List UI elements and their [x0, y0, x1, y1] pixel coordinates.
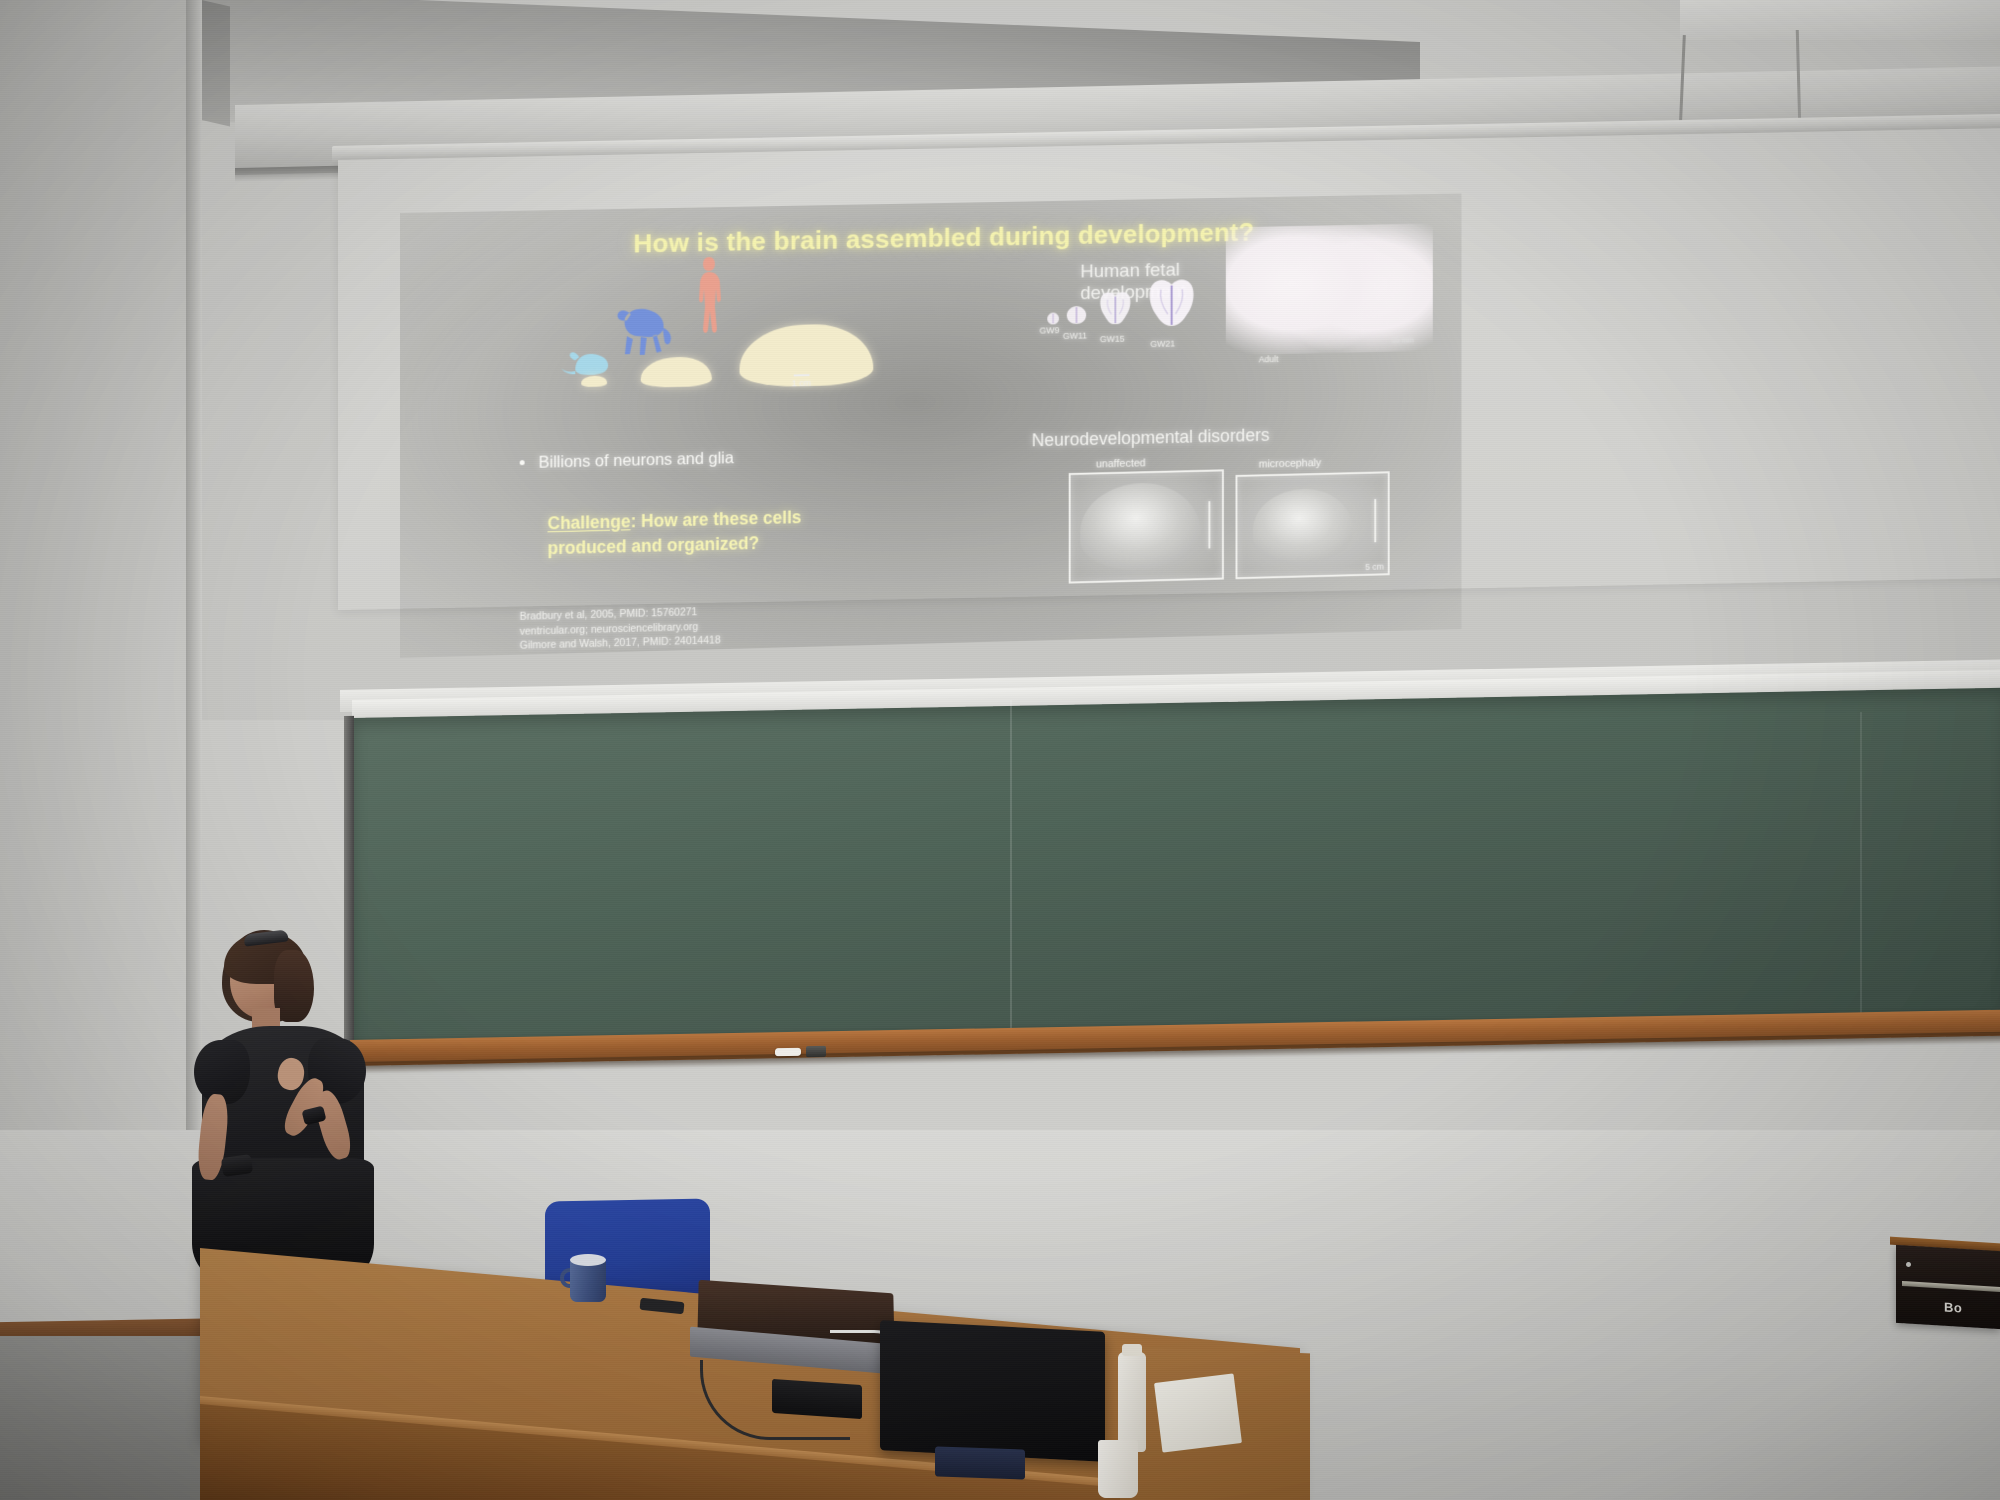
monitor-stand	[935, 1446, 1025, 1479]
slide-citations: Bradbury et al, 2005, PMID: 15760271 ven…	[520, 605, 721, 654]
mug-rim	[570, 1254, 606, 1266]
chalkboard-seam-right	[1860, 712, 1862, 1032]
fetal-series-panel: GW9 GW11 GW15 GW21 Adult 10 mm	[1032, 241, 1438, 387]
mri-head-unaffected	[1080, 482, 1200, 572]
bottle-cap[interactable]	[1122, 1344, 1142, 1356]
mri-microcephaly: 5 cm	[1236, 471, 1390, 579]
mri-unaffected	[1069, 469, 1224, 583]
fetal-label-adult: Adult	[1259, 354, 1279, 364]
challenge-line2: produced and organized?	[548, 533, 760, 558]
mri-scale-bar-microcephaly	[1374, 499, 1376, 542]
fetal-scale-bar: 10 mm	[1392, 336, 1414, 345]
human-silhouette	[690, 255, 729, 345]
challenge-line1: : How are these cells	[630, 507, 801, 531]
mri-head-microcephaly	[1253, 488, 1353, 563]
mouse-brain	[581, 376, 607, 388]
challenge-block: Challenge: How are these cells produced …	[548, 503, 893, 561]
disorders-heading: Neurodevelopmental disorders	[1032, 425, 1270, 451]
species-comparison-panel: 1 cm	[530, 246, 846, 412]
mri-scale-bar-unaffected	[1208, 501, 1210, 548]
fetal-label-gw15: GW15	[1100, 334, 1125, 344]
external-monitor[interactable]	[880, 1320, 1105, 1462]
board-eraser[interactable]	[806, 1046, 826, 1057]
chalkboard-seam	[1010, 700, 1012, 1045]
species-scale-bar: 1 cm	[792, 378, 811, 388]
fetal-brain-gw9	[1045, 311, 1061, 325]
challenge-keyword: Challenge	[548, 511, 631, 533]
fetal-label-gw9: GW9	[1039, 325, 1059, 335]
monkey-silhouette	[607, 301, 676, 360]
monkey-brain	[641, 356, 712, 387]
mouse-silhouette	[559, 347, 613, 378]
usb-hub[interactable]	[772, 1379, 862, 1419]
presenter-hair-side	[274, 950, 314, 1022]
papers[interactable]	[1154, 1373, 1242, 1452]
paper-cup[interactable]	[1098, 1440, 1138, 1498]
chalk-stick[interactable]	[775, 1048, 801, 1056]
bullet-dot-icon	[520, 460, 525, 465]
chalkboard	[352, 688, 2000, 1048]
lecture-hall-photo: How is the brain assembled during develo…	[0, 0, 2000, 1500]
fetal-brain-gw15	[1096, 290, 1135, 328]
fetal-brain-gw21	[1144, 277, 1198, 331]
fetal-brain-gw11	[1065, 305, 1088, 325]
mri-label-microcephaly: microcephaly	[1259, 457, 1322, 470]
fetal-label-gw11: GW11	[1063, 331, 1087, 341]
bullet-neurons-and-glia: Billions of neurons and glia	[520, 449, 734, 473]
mri-scale-label: 5 cm	[1365, 562, 1384, 572]
wall-device-logo: Bo	[1944, 1299, 1962, 1315]
bullet-text: Billions of neurons and glia	[539, 449, 734, 471]
fetal-label-gw21: GW21	[1150, 339, 1175, 349]
projected-slide: How is the brain assembled during develo…	[400, 194, 1462, 658]
power-led-icon	[1906, 1262, 1911, 1267]
mri-panel-group: unaffected microcephaly 5 cm	[1069, 450, 1455, 587]
wall-band-top-right	[1680, 0, 2000, 40]
mri-label-unaffected: unaffected	[1096, 457, 1146, 470]
water-bottle[interactable]	[1118, 1352, 1146, 1452]
